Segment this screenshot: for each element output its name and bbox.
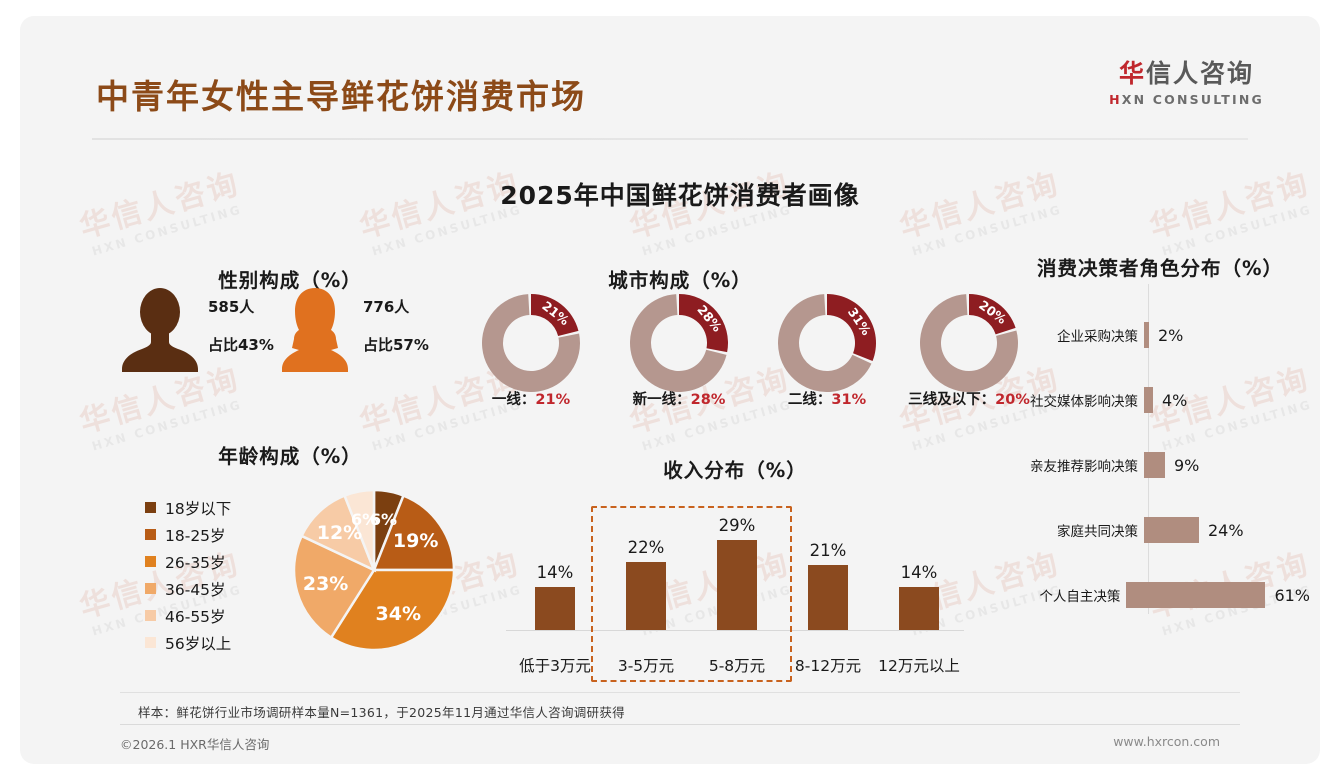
decision-role-chart: 企业采购决策2%社交媒体影响决策4%亲友推荐影响决策9%家庭共同决策24%个人自…	[1020, 284, 1310, 624]
age-section-title: 年龄构成（%）	[120, 440, 460, 469]
company-logo: 华信人咨询 HXN CONSULTING	[1109, 60, 1264, 107]
donut-caption: 三线及以下：20%	[879, 388, 1059, 409]
decision-role-row: 个人自主决策61%	[1020, 582, 1310, 608]
decision-role-row: 社交媒体影响决策4%	[1020, 387, 1310, 413]
slide-canvas: 华信人咨询HXN CONSULTING华信人咨询HXN CONSULTING华信…	[20, 16, 1320, 764]
city-donut-二线: 31%二线：31%	[778, 294, 876, 392]
age-legend-label: 18岁以下	[165, 497, 231, 519]
donut-caption-value: 20%	[995, 392, 1030, 408]
female-silhouette-icon	[275, 286, 355, 372]
copyright-text: ©2026.1 HXR华信人咨询	[120, 734, 269, 753]
footer-divider	[120, 724, 1240, 725]
age-legend-label: 36-45岁	[165, 578, 226, 600]
gender-share: 占比43%	[208, 334, 274, 355]
age-legend-label: 56岁以上	[165, 632, 231, 654]
income-highlight-box	[591, 506, 792, 682]
chart-main-title: 2025年中国鲜花饼消费者画像	[470, 176, 890, 212]
age-legend-item: 18岁以下	[145, 494, 231, 521]
decision-role-value: 2%	[1158, 326, 1183, 345]
website-url: www.hxrcon.com	[1113, 734, 1220, 749]
legend-swatch-icon	[145, 583, 156, 594]
income-category-label: 12万元以上	[869, 654, 969, 676]
note-divider	[120, 692, 1240, 693]
age-legend-item: 56岁以上	[145, 629, 231, 656]
age-composition-pie: 6%19%34%23%12%6%	[292, 488, 456, 656]
age-slice-label: 34%	[374, 603, 422, 625]
gender-count: 776人	[363, 296, 409, 317]
watermark: 华信人咨询HXN CONSULTING	[77, 169, 249, 260]
logo-en-accent: H	[1109, 92, 1122, 107]
income-bar-value: 14%	[876, 563, 962, 582]
decision-role-bar	[1144, 452, 1165, 478]
age-slice-label: 23%	[302, 573, 350, 595]
legend-swatch-icon	[145, 529, 156, 540]
decision-role-bar	[1126, 582, 1265, 608]
page-title: 中青年女性主导鲜花饼消费市场	[96, 70, 586, 118]
legend-swatch-icon	[145, 610, 156, 621]
slide-header: 中青年女性主导鲜花饼消费市场 华信人咨询 HXN CONSULTING	[20, 16, 1320, 120]
header-divider	[92, 138, 1248, 140]
legend-swatch-icon	[145, 502, 156, 513]
income-bar-column: 14%	[876, 563, 962, 630]
city-donut-一线: 21%一线：21%	[482, 294, 580, 392]
logo-english-text: HXN CONSULTING	[1109, 92, 1264, 107]
decision-role-value: 9%	[1174, 456, 1199, 475]
donut-caption-value: 21%	[535, 392, 570, 408]
decision-role-label: 个人自主决策	[1020, 585, 1126, 605]
decision-section-title: 消费决策者角色分布（%）	[1010, 252, 1310, 281]
age-legend-item: 36-45岁	[145, 575, 231, 602]
age-legend-label: 46-55岁	[165, 605, 226, 627]
age-legend-label: 26-35岁	[165, 551, 226, 573]
donut-ring: 31%	[778, 294, 876, 392]
age-legend-item: 18-25岁	[145, 521, 231, 548]
logo-rest-chars: 信人咨询	[1146, 59, 1254, 88]
decision-role-value: 24%	[1208, 521, 1244, 540]
male-silhouette-icon	[120, 286, 200, 372]
income-bar	[535, 587, 575, 630]
watermark: 华信人咨询HXN CONSULTING	[1147, 169, 1319, 260]
sample-note: 样本：鲜花饼行业市场调研样本量N=1361，于2025年11月通过华信人咨询调研…	[138, 702, 625, 721]
logo-chinese-text: 华信人咨询	[1109, 60, 1264, 88]
income-bar-column: 14%	[512, 563, 598, 630]
decision-role-bar	[1144, 322, 1149, 348]
income-category-label: 8-12万元	[778, 654, 878, 676]
donut-ring: 21%	[482, 294, 580, 392]
legend-swatch-icon	[145, 556, 156, 567]
income-section-title: 收入分布（%）	[500, 454, 970, 483]
donut-caption-value: 28%	[691, 392, 726, 408]
decision-role-row: 亲友推荐影响决策9%	[1020, 452, 1310, 478]
age-slice-label: 6%	[341, 510, 389, 529]
city-donut-新一线: 28%新一线：28%	[630, 294, 728, 392]
age-legend-item: 26-35岁	[145, 548, 231, 575]
income-bar	[899, 587, 939, 630]
legend-swatch-icon	[145, 637, 156, 648]
age-pie-legend: 18岁以下18-25岁26-35岁36-45岁46-55岁56岁以上	[145, 494, 231, 656]
decision-role-label: 企业采购决策	[1020, 325, 1144, 345]
income-bar-value: 21%	[785, 541, 871, 560]
income-category-label: 低于3万元	[505, 654, 605, 676]
gender-count: 585人	[208, 296, 254, 317]
decision-role-bar	[1144, 517, 1199, 543]
income-bar-value: 14%	[512, 563, 598, 582]
age-legend-item: 46-55岁	[145, 602, 231, 629]
logo-accent-char: 华	[1119, 59, 1146, 88]
decision-role-row: 家庭共同决策24%	[1020, 517, 1310, 543]
city-donut-三线及以下: 20%三线及以下：20%	[920, 294, 1018, 392]
logo-en-rest: XN CONSULTING	[1122, 92, 1264, 107]
decision-role-bar	[1144, 387, 1153, 413]
age-slice-label: 19%	[392, 530, 440, 552]
income-bar	[808, 565, 848, 630]
decision-role-value: 4%	[1162, 391, 1187, 410]
donut-ring: 28%	[630, 294, 728, 392]
decision-role-row: 企业采购决策2%	[1020, 322, 1310, 348]
watermark: 华信人咨询HXN CONSULTING	[897, 169, 1069, 260]
donut-ring: 20%	[920, 294, 1018, 392]
gender-share: 占比57%	[363, 334, 429, 355]
decision-role-label: 家庭共同决策	[1020, 520, 1144, 540]
donut-caption-value: 31%	[831, 392, 866, 408]
income-bar-column: 21%	[785, 541, 871, 630]
city-section-title: 城市构成（%）	[470, 264, 890, 293]
decision-role-value: 61%	[1274, 586, 1310, 605]
income-distribution-chart: 14%低于3万元22%3-5万元29%5-8万元21%8-12万元14%12万元…	[500, 494, 970, 684]
age-legend-label: 18-25岁	[165, 524, 226, 546]
decision-role-label: 亲友推荐影响决策	[1020, 455, 1144, 475]
